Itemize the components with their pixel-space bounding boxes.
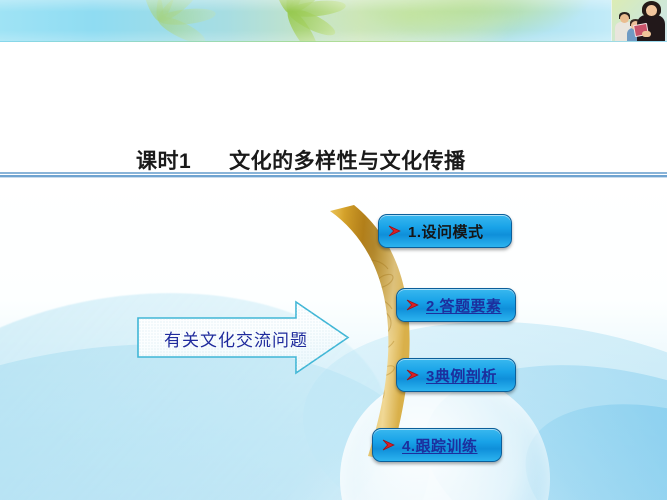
diagram-item-1[interactable]: 1.设问模式: [378, 214, 512, 248]
source-label: 有关文化交流问题: [146, 326, 326, 351]
teacher-hand: [642, 31, 651, 37]
teacher-students-photo: [611, 0, 667, 41]
red-chevron-bullet-icon: [388, 225, 403, 238]
diagram-item-label: 4.跟踪训练: [402, 435, 478, 456]
banner-sheen: [0, 0, 667, 42]
header-banner: [0, 0, 667, 42]
diagram-item-3[interactable]: 3典例剖析: [396, 358, 516, 392]
diagram-item-label: 3典例剖析: [426, 365, 497, 386]
diagram-item-label: 2.答题要素: [426, 295, 502, 316]
diagram-item-2[interactable]: 2.答题要素: [396, 288, 516, 322]
student-head: [620, 14, 629, 23]
slide-canvas: 课时1 文化的多样性与文化传播: [0, 0, 667, 500]
title-area: 课时1 文化的多样性与文化传播: [0, 42, 667, 173]
diagram-item-label: 1.设问模式: [408, 221, 484, 242]
red-chevron-bullet-icon: [382, 439, 397, 452]
page-title: 课时1 文化的多样性与文化传播: [136, 145, 466, 175]
diagram-item-4[interactable]: 4.跟踪训练: [372, 428, 502, 462]
red-chevron-bullet-icon: [406, 369, 421, 382]
red-chevron-bullet-icon: [406, 299, 421, 312]
teacher-face: [646, 5, 657, 16]
source-arrow-callout: 有关文化交流问题: [136, 300, 351, 375]
